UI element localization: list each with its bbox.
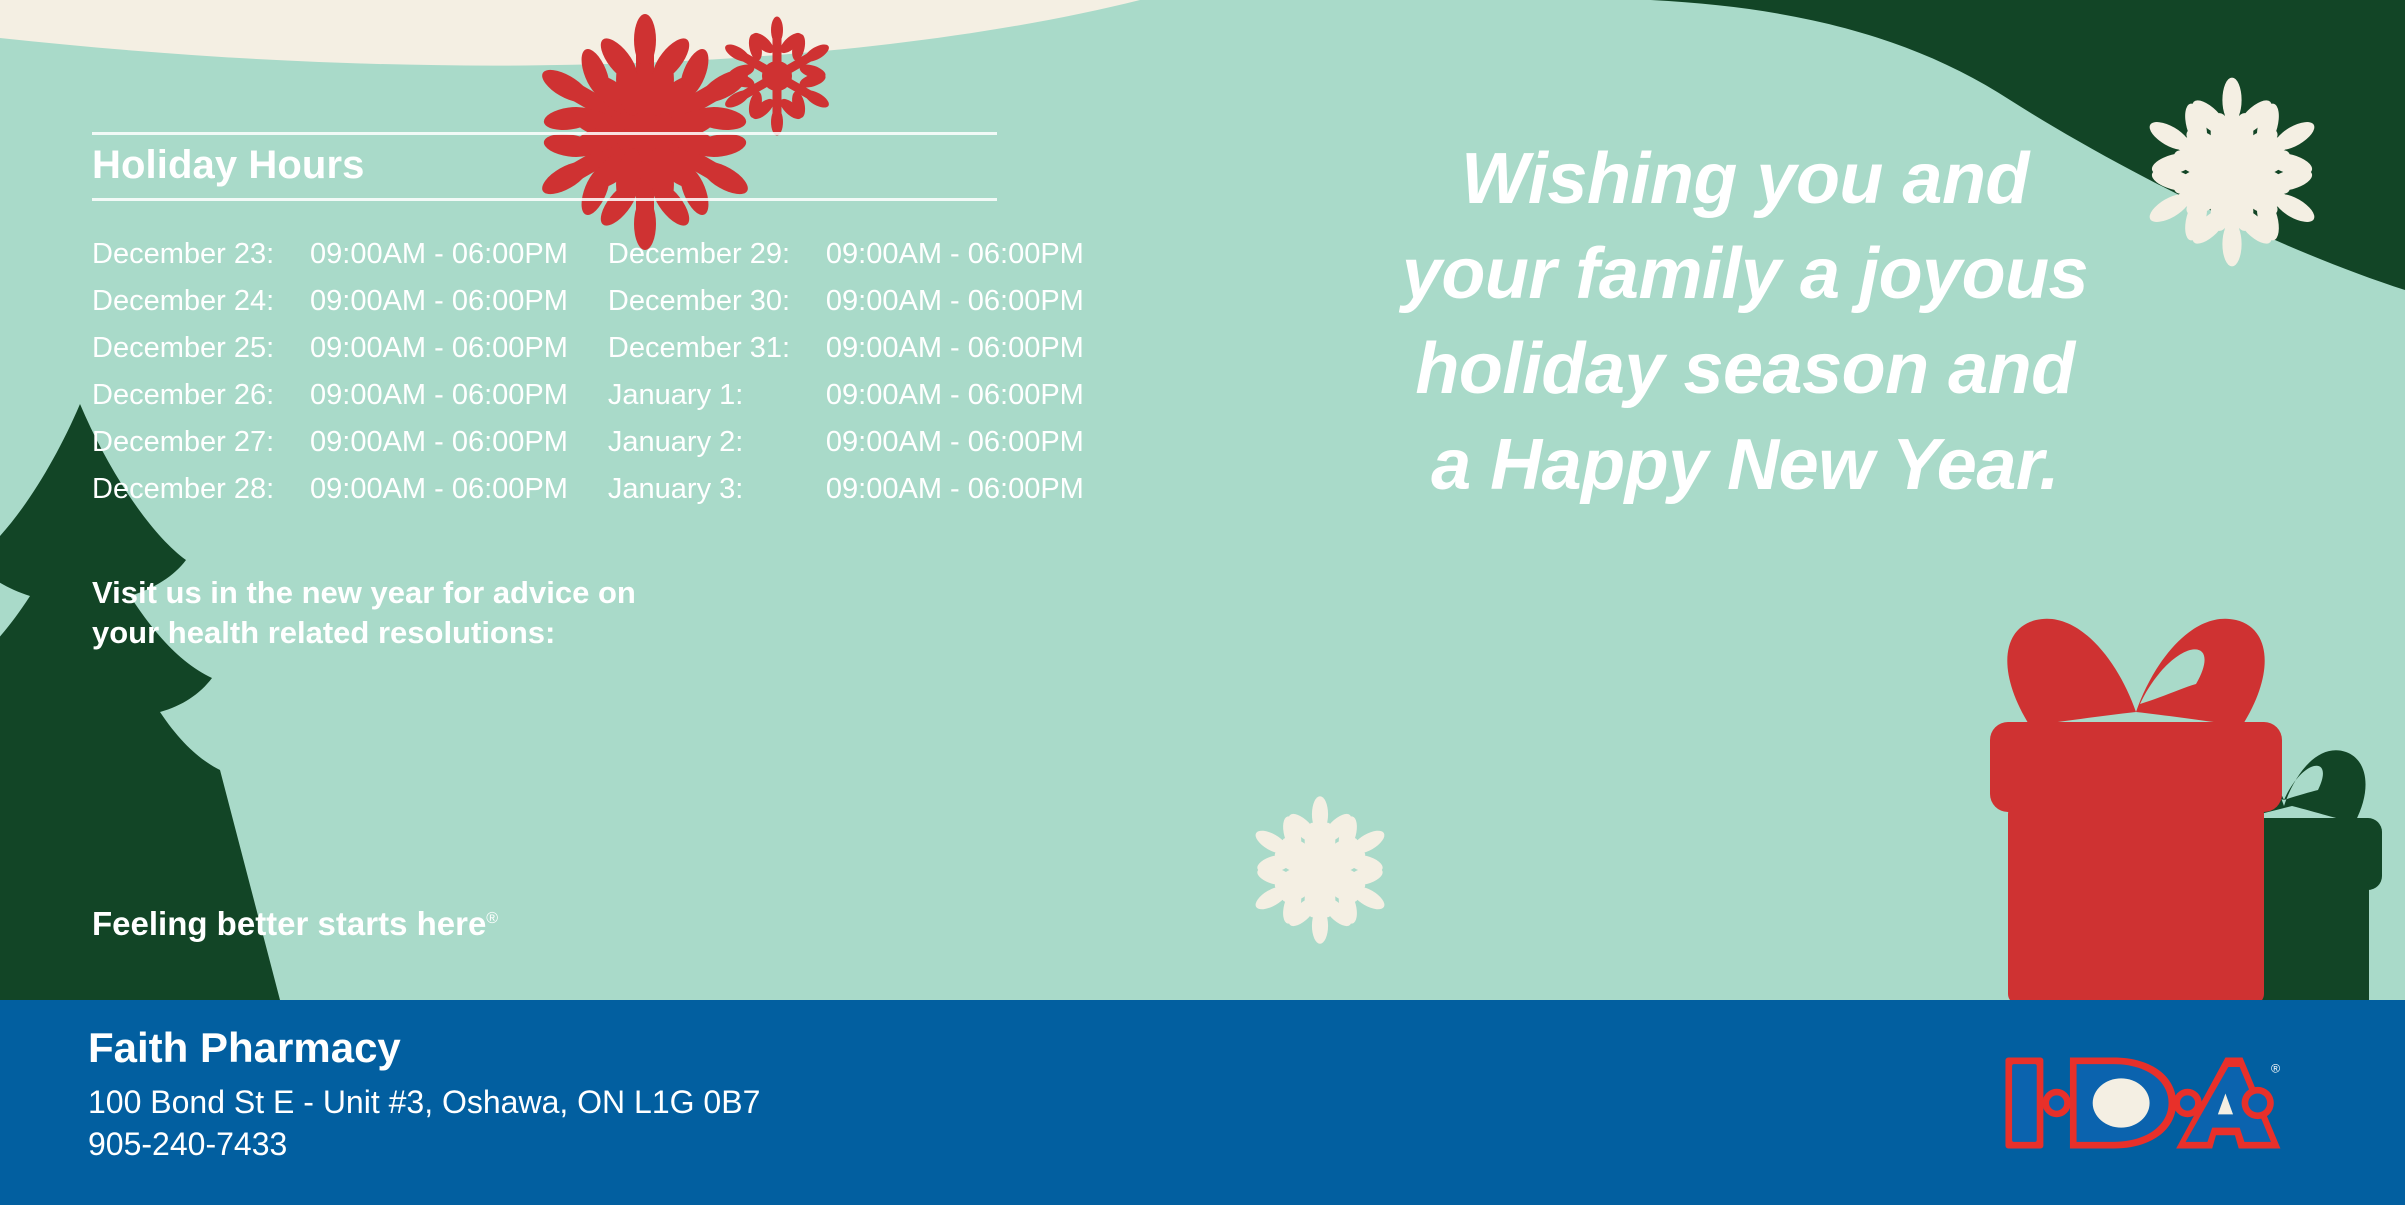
hours-row: December 30: 09:00AM - 06:00PM: [608, 278, 1084, 325]
hours-row: December 29: 09:00AM - 06:00PM: [608, 231, 1084, 278]
hours-row: December 26: 09:00AM - 06:00PM: [92, 372, 568, 419]
store-name: Faith Pharmacy: [88, 1022, 760, 1075]
hours-day: December 23:: [92, 231, 310, 278]
greeting-line-1: Wishing you and: [1330, 140, 2160, 219]
hours-day: December 28:: [92, 466, 310, 513]
hours-row: December 25: 09:00AM - 06:00PM: [92, 325, 568, 372]
greeting-line-3: holiday season and: [1330, 330, 2160, 409]
hours-row: December 28: 09:00AM - 06:00PM: [92, 466, 568, 513]
hours-row: December 23: 09:00AM - 06:00PM: [92, 231, 568, 278]
hours-rule-top: [92, 132, 997, 135]
hours-column-2: December 29: 09:00AM - 06:00PM December …: [608, 231, 1084, 513]
holiday-greeting-card: Holiday Hours December 23: 09:00AM - 06:…: [0, 0, 2405, 1205]
registered-mark: ®: [486, 910, 498, 927]
promo-line-1: Visit us in the new year for advice on: [92, 573, 852, 613]
hours-day: December 31:: [608, 325, 826, 372]
greeting-line-2: your family a joyous: [1330, 235, 2160, 314]
hours-day: January 3:: [608, 466, 826, 513]
hours-time: 09:00AM - 06:00PM: [826, 466, 1084, 513]
ida-logo: ®: [1997, 1048, 2287, 1158]
promo-message: Visit us in the new year for advice on y…: [92, 573, 852, 652]
promo-line-2: your health related resolutions:: [92, 613, 852, 653]
hours-row: December 31: 09:00AM - 06:00PM: [608, 325, 1084, 372]
hours-day: December 29:: [608, 231, 826, 278]
greeting-line-4: a Happy New Year.: [1330, 426, 2160, 505]
hours-time: 09:00AM - 06:00PM: [826, 278, 1084, 325]
hours-column-1: December 23: 09:00AM - 06:00PM December …: [92, 231, 568, 513]
hours-time: 09:00AM - 06:00PM: [310, 466, 568, 513]
hours-time: 09:00AM - 06:00PM: [310, 419, 568, 466]
hours-day: January 1:: [608, 372, 826, 419]
hours-title: Holiday Hours: [92, 135, 1122, 198]
hours-row: January 1: 09:00AM - 06:00PM: [608, 372, 1084, 419]
hours-row: December 27: 09:00AM - 06:00PM: [92, 419, 568, 466]
hours-rule-bottom: [92, 198, 997, 201]
footer-bar: Faith Pharmacy 100 Bond St E - Unit #3, …: [0, 1000, 2405, 1205]
hours-grid: December 23: 09:00AM - 06:00PM December …: [92, 231, 1122, 513]
hours-time: 09:00AM - 06:00PM: [826, 325, 1084, 372]
hours-time: 09:00AM - 06:00PM: [310, 325, 568, 372]
hours-day: December 27:: [92, 419, 310, 466]
store-address: 100 Bond St E - Unit #3, Oshawa, ON L1G …: [88, 1081, 760, 1124]
store-info: Faith Pharmacy 100 Bond St E - Unit #3, …: [88, 1022, 760, 1166]
hours-time: 09:00AM - 06:00PM: [310, 231, 568, 278]
hours-row: December 24: 09:00AM - 06:00PM: [92, 278, 568, 325]
hours-day: December 26:: [92, 372, 310, 419]
hours-time: 09:00AM - 06:00PM: [310, 372, 568, 419]
hours-day: December 30:: [608, 278, 826, 325]
hours-time: 09:00AM - 06:00PM: [826, 231, 1084, 278]
holiday-hours-block: Holiday Hours December 23: 09:00AM - 06:…: [92, 132, 1122, 513]
store-phone: 905-240-7433: [88, 1123, 760, 1166]
hours-day: December 24:: [92, 278, 310, 325]
hours-time: 09:00AM - 06:00PM: [310, 278, 568, 325]
brand-tagline: Feeling better starts here®: [92, 905, 498, 943]
hours-day: December 25:: [92, 325, 310, 372]
greeting-message: Wishing you and your family a joyous hol…: [1330, 140, 2160, 521]
hours-time: 09:00AM - 06:00PM: [826, 419, 1084, 466]
hours-time: 09:00AM - 06:00PM: [826, 372, 1084, 419]
hours-day: January 2:: [608, 419, 826, 466]
tagline-text: Feeling better starts here: [92, 905, 486, 942]
hours-row: January 3: 09:00AM - 06:00PM: [608, 466, 1084, 513]
hours-row: January 2: 09:00AM - 06:00PM: [608, 419, 1084, 466]
logo-registered-mark: ®: [2271, 1062, 2280, 1076]
